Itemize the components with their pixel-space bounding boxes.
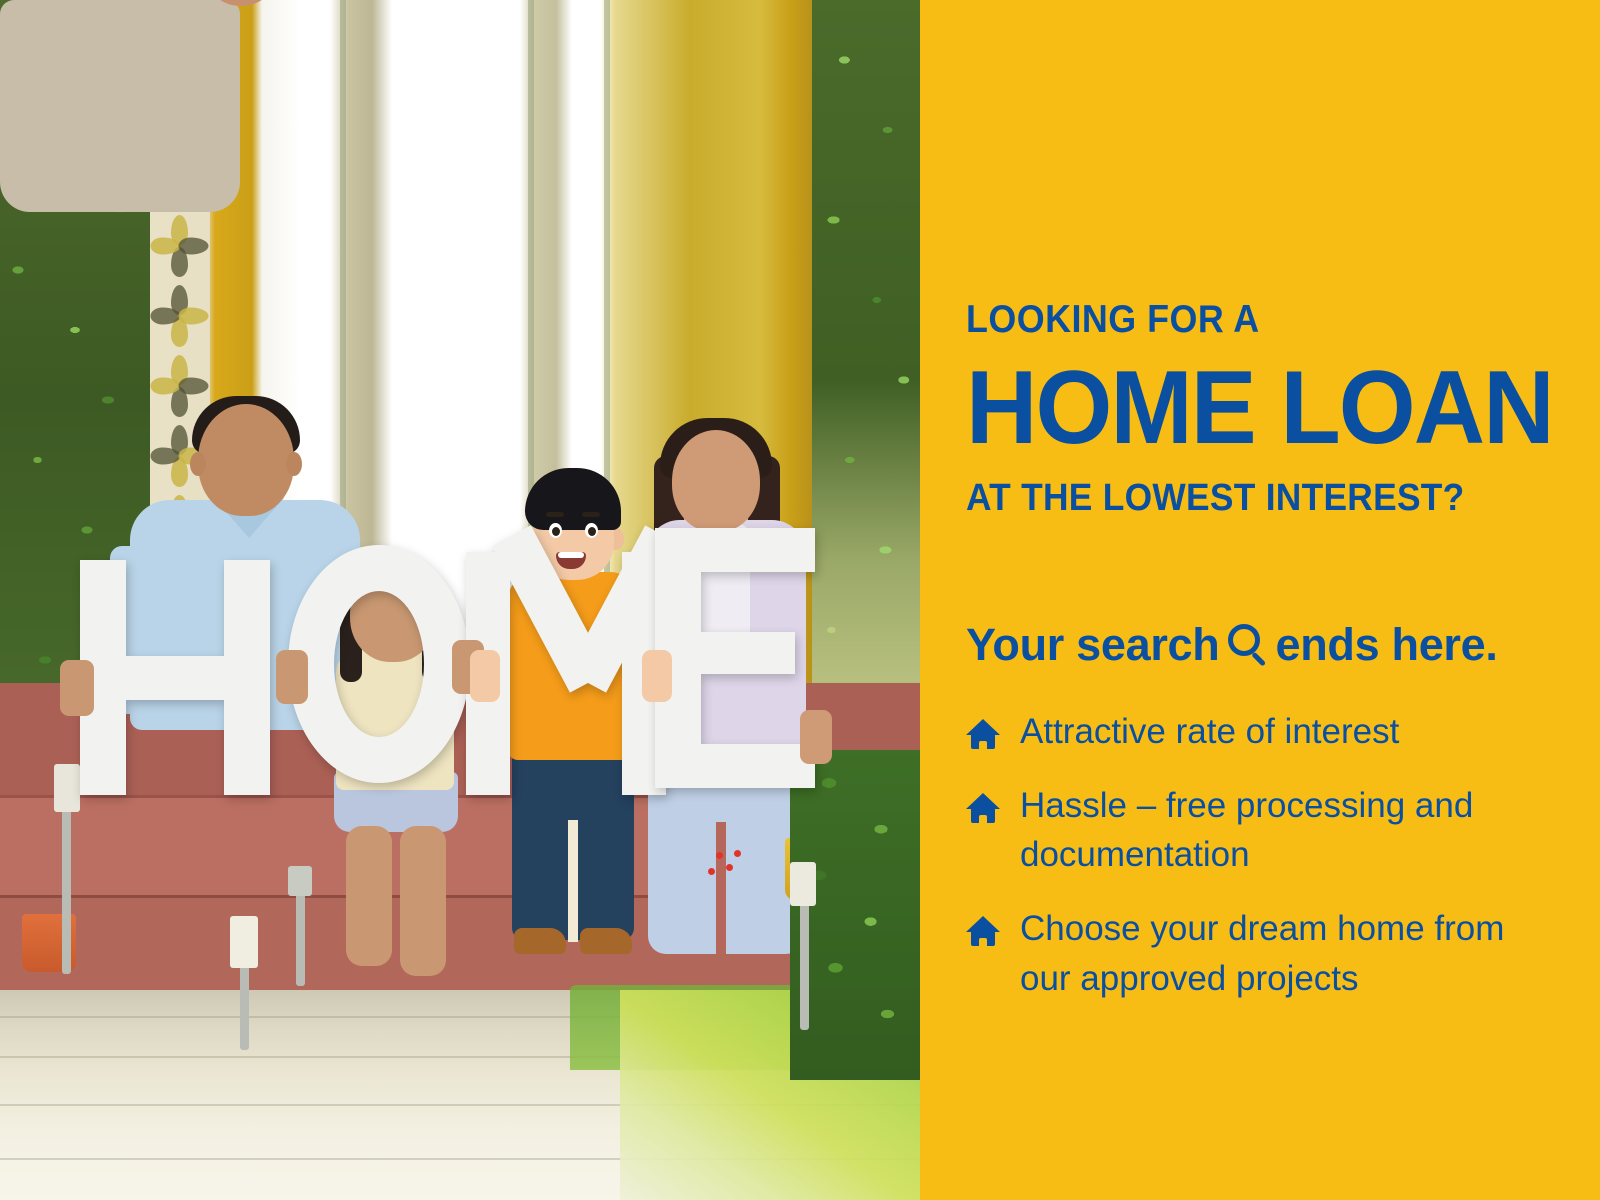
advertisement-banner: LOOKING FOR A HOME LOAN AT THE LOWEST IN…	[0, 0, 1600, 1200]
boy-leg-gap	[568, 820, 578, 942]
daughter-leg	[346, 826, 392, 966]
list-item: Hassle – free processing and documentati…	[966, 781, 1600, 880]
home-icon	[966, 793, 1000, 823]
father-ear	[190, 452, 206, 476]
tile-petal	[179, 308, 209, 325]
letter-board-e	[655, 528, 815, 788]
home-icon	[966, 916, 1000, 946]
boy-pupil	[588, 527, 596, 536]
hand-grip	[276, 650, 308, 704]
red-flower	[708, 868, 715, 875]
eyebrow-text: LOOKING FOR A	[966, 300, 1549, 339]
hand-grip	[800, 710, 832, 764]
father-head	[198, 404, 294, 516]
garden-lamp-head	[54, 764, 80, 812]
home-icon	[966, 719, 1000, 749]
subline-text: AT THE LOWEST INTEREST?	[966, 479, 1556, 517]
benefits-list: Attractive rate of interest Hassle – fre…	[966, 707, 1600, 1003]
boy-eyebrow	[546, 512, 564, 517]
tile-petal	[179, 238, 209, 255]
boy-eyebrow	[582, 512, 600, 517]
hand-grip	[470, 650, 500, 702]
offer-panel: LOOKING FOR A HOME LOAN AT THE LOWEST IN…	[920, 0, 1600, 1200]
father-trousers	[0, 0, 240, 212]
boy-shoe	[580, 928, 632, 954]
tile-petal	[179, 378, 209, 395]
garden-lamp-post	[800, 900, 809, 1030]
garden-lamp-post	[240, 962, 249, 1050]
mother-leg-gap	[716, 822, 726, 954]
list-item: Choose your dream home from our approved…	[966, 904, 1600, 1003]
daughter-leg	[400, 826, 446, 976]
red-flower	[726, 864, 733, 871]
hand-grip	[60, 660, 94, 716]
red-flower	[734, 850, 741, 857]
garden-lamp-post	[62, 806, 71, 974]
benefit-text: Hassle – free processing and documentati…	[1020, 781, 1520, 880]
garden-shrub	[790, 750, 920, 1080]
letter-board-h	[80, 560, 270, 795]
benefit-text: Choose your dream home from our approved…	[1020, 904, 1520, 1003]
magnifier-icon	[1226, 624, 1268, 666]
garden-lamp-head	[790, 862, 816, 906]
family-home-photo	[0, 0, 920, 1200]
father-ear	[286, 452, 302, 476]
mother-head	[672, 430, 760, 532]
headline-text: HOME LOAN	[966, 355, 1568, 461]
tagline: Your search ends here.	[966, 619, 1600, 671]
garden-lamp-head	[288, 866, 312, 896]
tagline-before: Your search	[966, 619, 1219, 671]
boy-shoe	[514, 928, 566, 954]
garden-lamp-head	[230, 916, 258, 968]
garden-lamp-post	[296, 890, 305, 986]
letter-board-o	[288, 545, 470, 783]
benefit-text: Attractive rate of interest	[1020, 707, 1399, 757]
hand-grip	[642, 650, 672, 702]
father-figure	[0, 0, 240, 212]
red-flower	[716, 852, 723, 859]
list-item: Attractive rate of interest	[966, 707, 1600, 757]
boy-pupil	[552, 527, 560, 536]
tagline-after: ends here.	[1275, 619, 1497, 671]
